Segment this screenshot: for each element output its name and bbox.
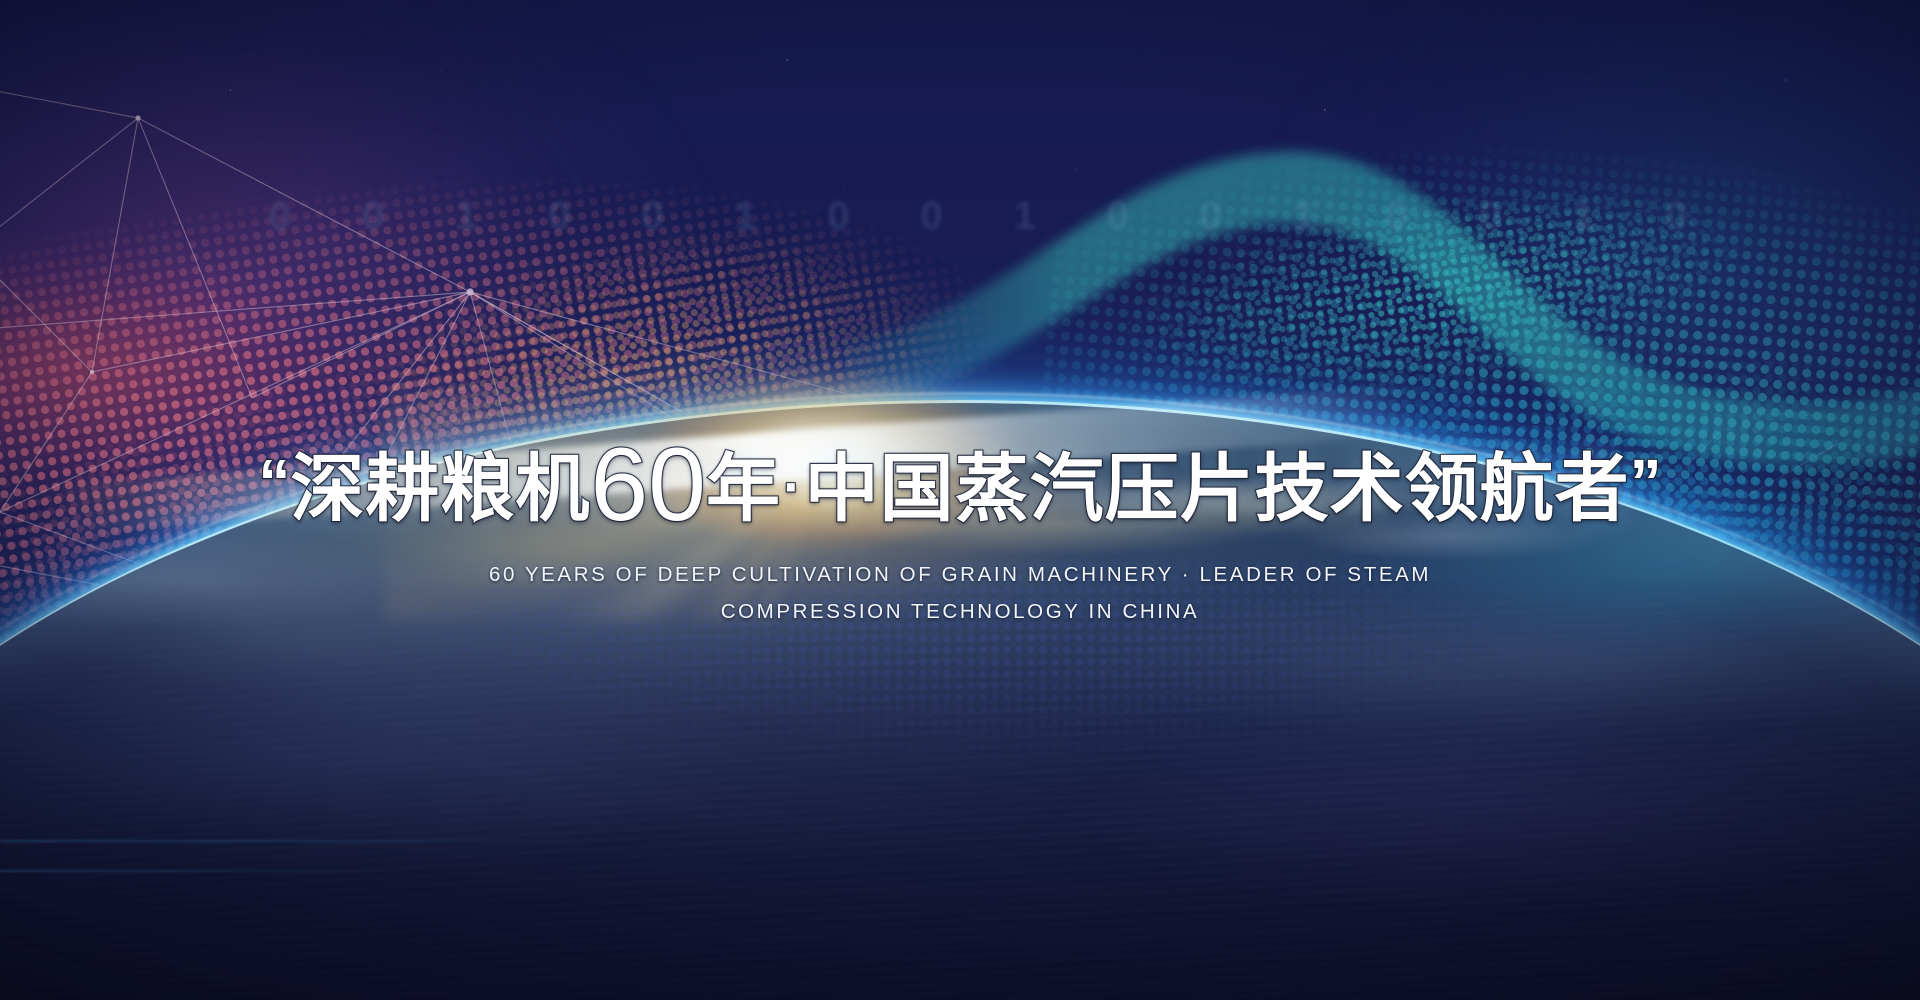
binary-digit: 1 xyxy=(1572,194,1596,239)
binary-digit-strip: 0 0 1 0 0 1 0 0 1 0 0 1 0 0 1 0 xyxy=(269,194,1690,239)
binary-digit: 1 xyxy=(1293,194,1317,239)
binary-digit: 0 xyxy=(269,194,293,239)
binary-digit: 1 xyxy=(455,194,479,239)
binary-digit: 0 xyxy=(1386,194,1410,239)
binary-digit: 0 xyxy=(1665,194,1689,239)
binary-digit: 0 xyxy=(1107,194,1131,239)
halftone-wave-surface xyxy=(269,560,1651,860)
binary-digit: 0 xyxy=(548,194,572,239)
binary-digit: 0 xyxy=(1200,194,1224,239)
binary-digit: 0 xyxy=(827,194,851,239)
banner-root: 0 0 1 0 0 1 0 0 1 0 0 1 0 0 1 0 “深耕粮机60年… xyxy=(0,0,1920,1000)
binary-digit: 0 xyxy=(362,194,386,239)
binary-digit: 1 xyxy=(1014,194,1038,239)
binary-digit: 0 xyxy=(1479,194,1503,239)
binary-digit: 0 xyxy=(641,194,665,239)
binary-digit: 1 xyxy=(734,194,758,239)
binary-digit: 0 xyxy=(920,194,944,239)
